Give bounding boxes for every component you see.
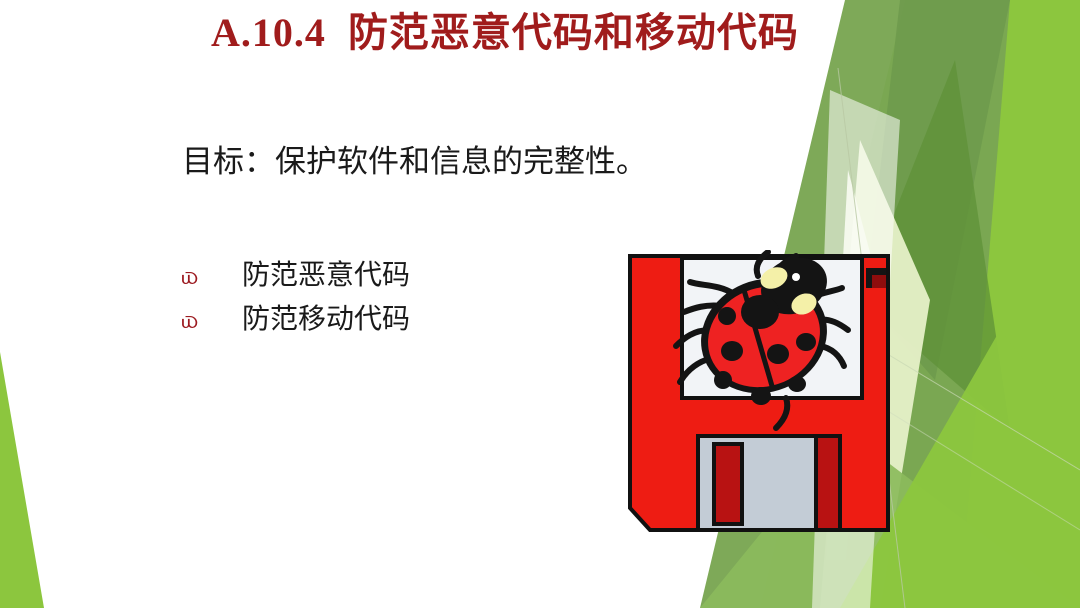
list-item-label: 防范恶意代码 (242, 256, 410, 296)
objective-line: 目标：保护软件和信息的完整性。 (182, 142, 647, 182)
slide-title: A.10.4防范恶意代码和移动代码 (0, 8, 1010, 58)
ladybug-spot (718, 307, 736, 325)
floppy-shutter-slot (714, 444, 742, 524)
slide-canvas: A.10.4防范恶意代码和移动代码 目标：保护软件和信息的完整性。 ௰ 防范恶意… (0, 0, 1080, 608)
floppy-notch-shadow-2 (866, 268, 872, 288)
list-item-label: 防范移动代码 (242, 300, 410, 340)
ladybug-spot (751, 387, 771, 405)
bullet-list: ௰ 防范恶意代码 ௰ 防范移动代码 (178, 256, 410, 344)
list-item: ௰ 防范移动代码 (178, 300, 410, 344)
corner-wedge-bottom-left (0, 352, 44, 608)
list-item: ௰ 防范恶意代码 (178, 256, 410, 300)
ladybug-spot (714, 371, 732, 389)
background-base (0, 0, 1080, 608)
hairline-c (870, 400, 1080, 530)
ladybug-thorax (741, 295, 779, 329)
ladybug-spot (796, 333, 816, 351)
ornament-bullet-icon: ௰ (178, 300, 252, 340)
ladybug-eye-highlight (792, 273, 800, 281)
background-decoration (0, 0, 1080, 608)
hairline-b (884, 352, 1080, 470)
ladybug-spot (767, 344, 789, 364)
title-clause-code: A.10.4 (211, 10, 326, 55)
ornament-bullet-icon: ௰ (178, 256, 252, 296)
ladybug-spot (788, 376, 806, 392)
title-clause-text: 防范恶意代码和移动代码 (348, 10, 799, 55)
floppy-shutter-right-edge (816, 436, 840, 530)
ladybug-spot (721, 341, 743, 361)
floppy-disk-with-ladybug-illustration (626, 250, 894, 536)
